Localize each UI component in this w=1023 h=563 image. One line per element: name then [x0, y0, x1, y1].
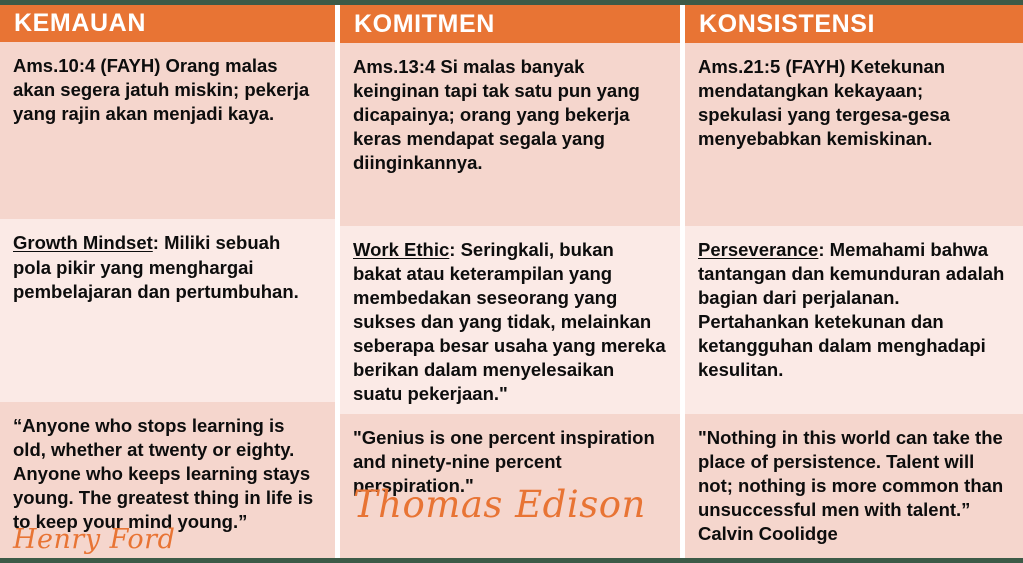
column-header-label: KONSISTENSI	[699, 12, 875, 37]
table-column-kemauan: KEMAUAN Ams.10:4 (FAYH) Orang malas akan…	[0, 5, 335, 558]
verse-text: Ams.21:5 (FAYH) Ketekunan mendatangkan k…	[698, 56, 950, 149]
table-column-komitmen: KOMITMEN Ams.13:4 Si malas banyak keingi…	[340, 5, 680, 558]
quote-attribution: Henry Ford	[13, 528, 322, 552]
verse-cell-konsistensi: Ams.21:5 (FAYH) Ketekunan mendatangkan k…	[685, 43, 1023, 226]
column-header-komitmen: KOMITMEN	[340, 5, 680, 43]
concept-body-text: : Seringkali, bukan bakat atau keterampi…	[353, 239, 666, 404]
quote-text: "Nothing in this world can take the plac…	[698, 427, 1003, 520]
concept-cell-konsistensi: Perseverance: Memahami bahwa tantangan d…	[685, 226, 1023, 414]
quote-cell-kemauan: “Anyone who stops learning is old, wheth…	[0, 402, 335, 558]
column-header-konsistensi: KONSISTENSI	[685, 5, 1023, 43]
concept-body-text: : Memahami bahwa tantangan dan kemundura…	[698, 239, 1004, 380]
concept-cell-kemauan: Growth Mindset: Miliki sebuah pola pikir…	[0, 219, 335, 402]
quote-text: “Anyone who stops learning is old, wheth…	[13, 415, 313, 532]
verse-cell-komitmen: Ams.13:4 Si malas banyak keinginan tapi …	[340, 43, 680, 226]
slide-canvas: KEMAUAN Ams.10:4 (FAYH) Orang malas akan…	[0, 0, 1023, 563]
verse-text: Ams.13:4 Si malas banyak keinginan tapi …	[353, 56, 640, 173]
verse-text: Ams.10:4 (FAYH) Orang malas akan segera …	[13, 55, 309, 124]
column-header-label: KEMAUAN	[14, 11, 146, 36]
column-header-label: KOMITMEN	[354, 12, 495, 37]
quote-cell-konsistensi: "Nothing in this world can take the plac…	[685, 414, 1023, 558]
quote-attribution: Calvin Coolidge	[698, 522, 1010, 546]
quote-cell-komitmen: "Genius is one percent inspiration and n…	[340, 414, 680, 558]
verse-cell-kemauan: Ams.10:4 (FAYH) Orang malas akan segera …	[0, 42, 335, 220]
column-header-kemauan: KEMAUAN	[0, 5, 335, 42]
concept-cell-komitmen: Work Ethic: Seringkali, bukan bakat atau…	[340, 226, 680, 414]
concept-lead-label: Perseverance	[698, 239, 818, 260]
comparison-table: KEMAUAN Ams.10:4 (FAYH) Orang malas akan…	[0, 5, 1023, 558]
table-column-konsistensi: KONSISTENSI Ams.21:5 (FAYH) Ketekunan me…	[685, 5, 1023, 558]
concept-lead-label: Growth Mindset	[13, 232, 153, 253]
quote-attribution: Thomas Edison	[353, 488, 667, 521]
concept-lead-label: Work Ethic	[353, 239, 449, 260]
